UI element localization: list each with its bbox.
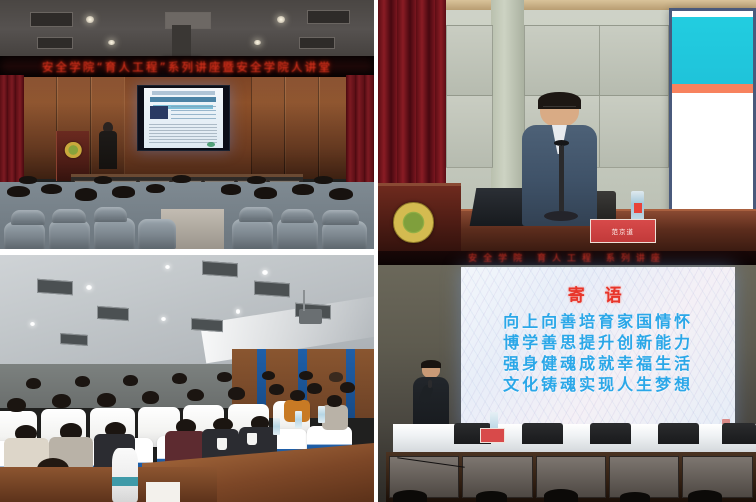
water-bottle [273,418,280,435]
chair [722,423,756,444]
led-banner: 安全学院 育人工程 系列讲座 [378,251,756,265]
audience-member [329,188,353,200]
audience-member [620,492,650,502]
audience-chair [322,210,359,225]
ceiling-vent [299,37,335,49]
audience-member [94,176,113,184]
ceiling-light [262,270,268,275]
ceiling-vent [37,278,73,295]
ceiling-projector [299,309,321,324]
slide-footer-text [149,124,217,144]
led-banner: 安全学院“育人工程”系列讲座暨安全学院人讲堂 [0,56,374,77]
ceiling-projector [172,25,191,60]
audience-member [97,393,116,407]
wall-panel [599,25,669,97]
water-bottle [490,412,498,430]
podium [56,131,89,181]
slide-body-text [171,106,217,119]
audience-chair [322,221,367,249]
audience-member [254,187,276,198]
audience-member [146,184,165,193]
slide-title: 寄 语 [568,281,629,306]
audience-chair [52,209,86,224]
speaker [412,361,450,431]
university-emblem-icon [65,142,82,159]
speaker-hair [421,360,441,368]
microphone [559,146,564,211]
speaker-body [99,131,117,169]
audience-member [7,398,26,412]
ceiling-vent [97,306,129,321]
speaker-closeup-scene: 范京道 [378,0,756,251]
audience-member [172,175,191,183]
audience-member [247,176,266,184]
auditorium-wide-scene: 安全学院“育人工程”系列讲座暨安全学院人讲堂 [0,0,374,249]
closing-slide-scene: 安全学院 育人工程 系列讲座 寄 语 向上向善培育家国情怀 博学善思提升创新能力… [378,251,756,502]
ceiling-vent [191,318,223,332]
wall-panel [251,77,287,179]
audience-member [299,371,312,381]
audience-member [142,391,159,403]
audience-chair [94,207,128,222]
microphone-base [544,211,578,221]
wall-panel [446,25,493,97]
ceiling-vent [307,10,350,24]
audience-member [688,490,722,502]
photo-top-right: 范京道 [378,0,756,251]
ceiling-vent [254,281,290,298]
audience-member [221,184,242,194]
ceiling-light [161,317,166,321]
slide-orange-band [672,84,753,93]
audience-chair [94,218,135,249]
wall-panel [22,77,58,179]
audience-member [544,489,578,502]
audience-member [292,184,314,195]
audience-member [269,384,284,395]
thermos-flask [112,448,138,502]
audience-member [187,389,204,401]
audience-member [307,383,322,394]
water-bottle [295,411,302,428]
ceiling-light [165,265,170,269]
photo-bottom-left [0,255,374,502]
university-emblem-icon [393,202,433,242]
audience-member [314,176,333,184]
projected-slide [144,88,223,148]
ceiling-vent [60,333,88,346]
nameplate-text: 范京道 [612,226,635,236]
audience-member [228,387,245,399]
chair [522,423,564,444]
led-banner-text: 安全学院“育人工程”系列讲座暨安全学院人讲堂 [42,59,332,75]
photo-collage: 安全学院“育人工程”系列讲座暨安全学院人讲堂 [0,0,756,502]
foreground-audience [378,484,756,502]
audience-member [172,373,187,384]
projection-screen [669,8,756,224]
audience-member-torso [322,405,348,430]
audience-member [393,490,427,502]
ceiling-light [236,309,241,313]
audience-seating-area [0,182,374,249]
audience-chair [4,222,45,249]
audience-member [476,491,506,502]
tissue-box [146,482,180,502]
wall-panel [446,95,493,167]
paper-cup [247,433,257,445]
slide-line-1: 向上向善培育家国情怀 [503,311,693,332]
stage-curtain-right [346,75,374,190]
projection-screen [137,85,231,152]
wall-panel [284,77,320,179]
nameplate: 范京道 [590,219,656,244]
audience-member [52,394,71,408]
ceiling-light [86,16,94,22]
wall-panel [599,95,669,167]
projection-screen: 寄 语 向上向善培育家国情怀 博学善思提升创新能力 强身健魂成就幸福生活 文化铸… [461,267,735,431]
ceiling-light [86,285,92,290]
glasses-icon [543,106,576,112]
paper-cup [217,438,227,450]
slide-line-2: 博学善思提升创新能力 [503,332,693,353]
audience-member [75,188,97,200]
stage-curtain-left [0,75,24,190]
audience-member [329,372,342,382]
slide-line-4: 文化铸魂实现人生梦想 [503,374,693,395]
ceiling-vent [37,37,73,49]
led-banner-text: 安全学院 育人工程 系列讲座 [468,251,666,264]
microphone [428,380,433,388]
wall-panel [524,25,602,97]
speaker-on-stage [99,122,117,169]
slide-line-3: 强身健魂成就幸福生活 [503,353,693,374]
ceiling-vent [202,261,238,278]
audience-member [217,372,232,382]
audience-scene [0,255,374,502]
audience-chair [11,210,45,225]
audience-member [327,395,342,406]
slide-logo [207,142,215,147]
audience-member [340,382,355,393]
audience-chair [232,219,273,249]
ceiling-vent [30,12,73,26]
audience-chair [281,209,315,224]
slide-title-bar [150,97,216,102]
audience-member [112,186,134,197]
audience-member [290,390,305,401]
nameplate [480,428,505,443]
photo-top-left: 安全学院“育人工程”系列讲座暨安全学院人讲堂 [0,0,374,249]
front-desk-row [0,467,217,502]
audience-member [41,184,62,194]
chair [658,423,700,444]
photo-bottom-right: 安全学院 育人工程 系列讲座 寄 语 向上向善培育家国情怀 博学善思提升创新能力… [378,251,756,502]
audience-member [7,186,29,197]
audience-member [262,371,275,381]
water-bottle [318,406,325,423]
podium [378,183,461,251]
slide-header-bar [152,91,215,95]
audience-member [26,378,41,389]
chair [590,423,632,444]
audience-chair [138,219,175,249]
audience-chair [49,220,90,249]
slide-cyan-band [672,17,753,84]
slide-portrait [150,106,167,119]
audience-member [75,376,90,387]
audience-member [123,375,138,386]
ceiling-light [277,16,285,22]
audience-chair [239,207,273,222]
audience-member [19,176,38,184]
